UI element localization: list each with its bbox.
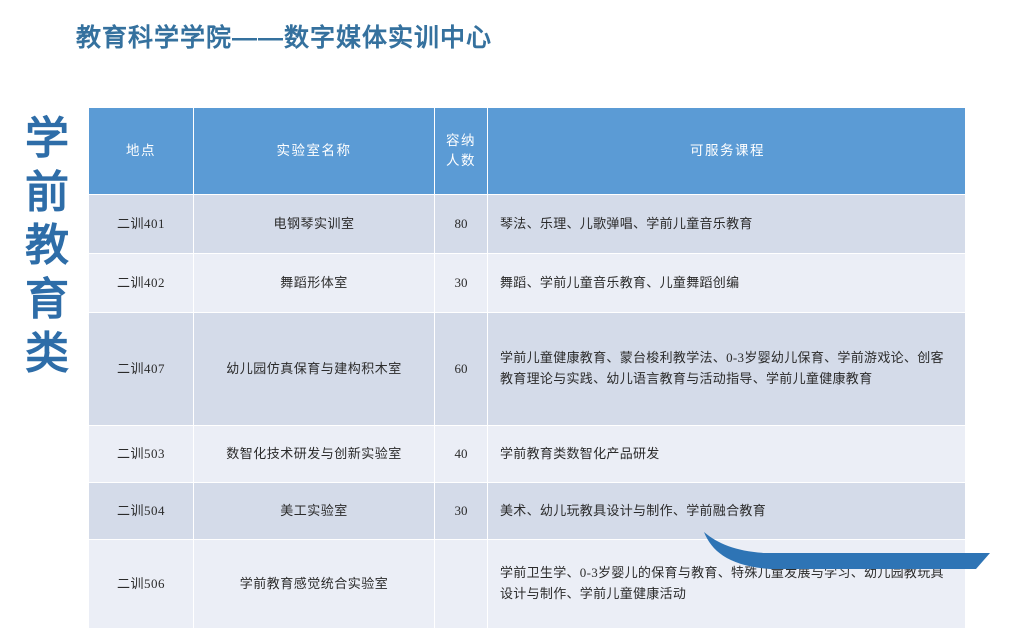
cell-courses: 琴法、乐理、儿歌弹唱、学前儿童音乐教育 — [488, 195, 965, 253]
cell-capacity: 80 — [435, 195, 487, 253]
cell-location: 二训506 — [89, 540, 193, 628]
category-char-2: 前 — [16, 166, 78, 220]
capacity-header-line1: 容纳 — [435, 131, 487, 151]
cell-lab-name: 美工实验室 — [194, 483, 434, 539]
cell-capacity: 30 — [435, 483, 487, 539]
cell-lab-name: 学前教育感觉统合实验室 — [194, 540, 434, 628]
page-title: 教育科学学院——数字媒体实训中心 — [76, 18, 492, 54]
cell-capacity: 30 — [435, 254, 487, 312]
column-header-location: 地点 — [89, 108, 193, 194]
cell-capacity: 60 — [435, 313, 487, 425]
cell-courses: 学前卫生学、0-3岁婴儿的保育与教育、特殊儿童发展与学习、幼儿园教玩具设计与制作… — [488, 540, 965, 628]
cell-location: 二训402 — [89, 254, 193, 312]
cell-location: 二训503 — [89, 426, 193, 482]
cell-location: 二训401 — [89, 195, 193, 253]
table-body: 二训401 电钢琴实训室 80 琴法、乐理、儿歌弹唱、学前儿童音乐教育 二训40… — [89, 195, 965, 628]
category-char-1: 学 — [16, 112, 78, 166]
capacity-header-line2: 人数 — [435, 151, 487, 171]
cell-lab-name: 电钢琴实训室 — [194, 195, 434, 253]
table-header: 地点 实验室名称 容纳 人数 可服务课程 — [89, 108, 965, 194]
category-char-4: 育 — [16, 273, 78, 327]
category-label: 学 前 教 育 类 — [16, 112, 78, 380]
cell-capacity — [435, 540, 487, 628]
category-char-3: 教 — [16, 219, 78, 273]
cell-lab-name: 舞蹈形体室 — [194, 254, 434, 312]
table-row: 二训401 电钢琴实训室 80 琴法、乐理、儿歌弹唱、学前儿童音乐教育 — [89, 195, 965, 253]
column-header-lab-name: 实验室名称 — [194, 108, 434, 194]
table-row: 二训402 舞蹈形体室 30 舞蹈、学前儿童音乐教育、儿童舞蹈创编 — [89, 254, 965, 312]
table-header-row: 地点 实验室名称 容纳 人数 可服务课程 — [89, 108, 965, 194]
cell-lab-name: 数智化技术研发与创新实验室 — [194, 426, 434, 482]
column-header-courses: 可服务课程 — [488, 108, 965, 194]
table-row: 二训503 数智化技术研发与创新实验室 40 学前教育类数智化产品研发 — [89, 426, 965, 482]
category-char-5: 类 — [16, 327, 78, 381]
cell-courses: 美术、幼儿玩教具设计与制作、学前融合教育 — [488, 483, 965, 539]
column-header-capacity: 容纳 人数 — [435, 108, 487, 194]
table-row: 二训506 学前教育感觉统合实验室 学前卫生学、0-3岁婴儿的保育与教育、特殊儿… — [89, 540, 965, 628]
cell-location: 二训504 — [89, 483, 193, 539]
cell-capacity: 40 — [435, 426, 487, 482]
cell-courses: 学前儿童健康教育、蒙台梭利教学法、0-3岁婴幼儿保育、学前游戏论、创客教育理论与… — [488, 313, 965, 425]
cell-courses: 舞蹈、学前儿童音乐教育、儿童舞蹈创编 — [488, 254, 965, 312]
cell-courses: 学前教育类数智化产品研发 — [488, 426, 965, 482]
table-row: 二训407 幼儿园仿真保育与建构积木室 60 学前儿童健康教育、蒙台梭利教学法、… — [89, 313, 965, 425]
lab-table: 地点 实验室名称 容纳 人数 可服务课程 二训401 电钢琴实训室 80 琴法、… — [88, 107, 966, 629]
cell-location: 二训407 — [89, 313, 193, 425]
cell-lab-name: 幼儿园仿真保育与建构积木室 — [194, 313, 434, 425]
table-row: 二训504 美工实验室 30 美术、幼儿玩教具设计与制作、学前融合教育 — [89, 483, 965, 539]
